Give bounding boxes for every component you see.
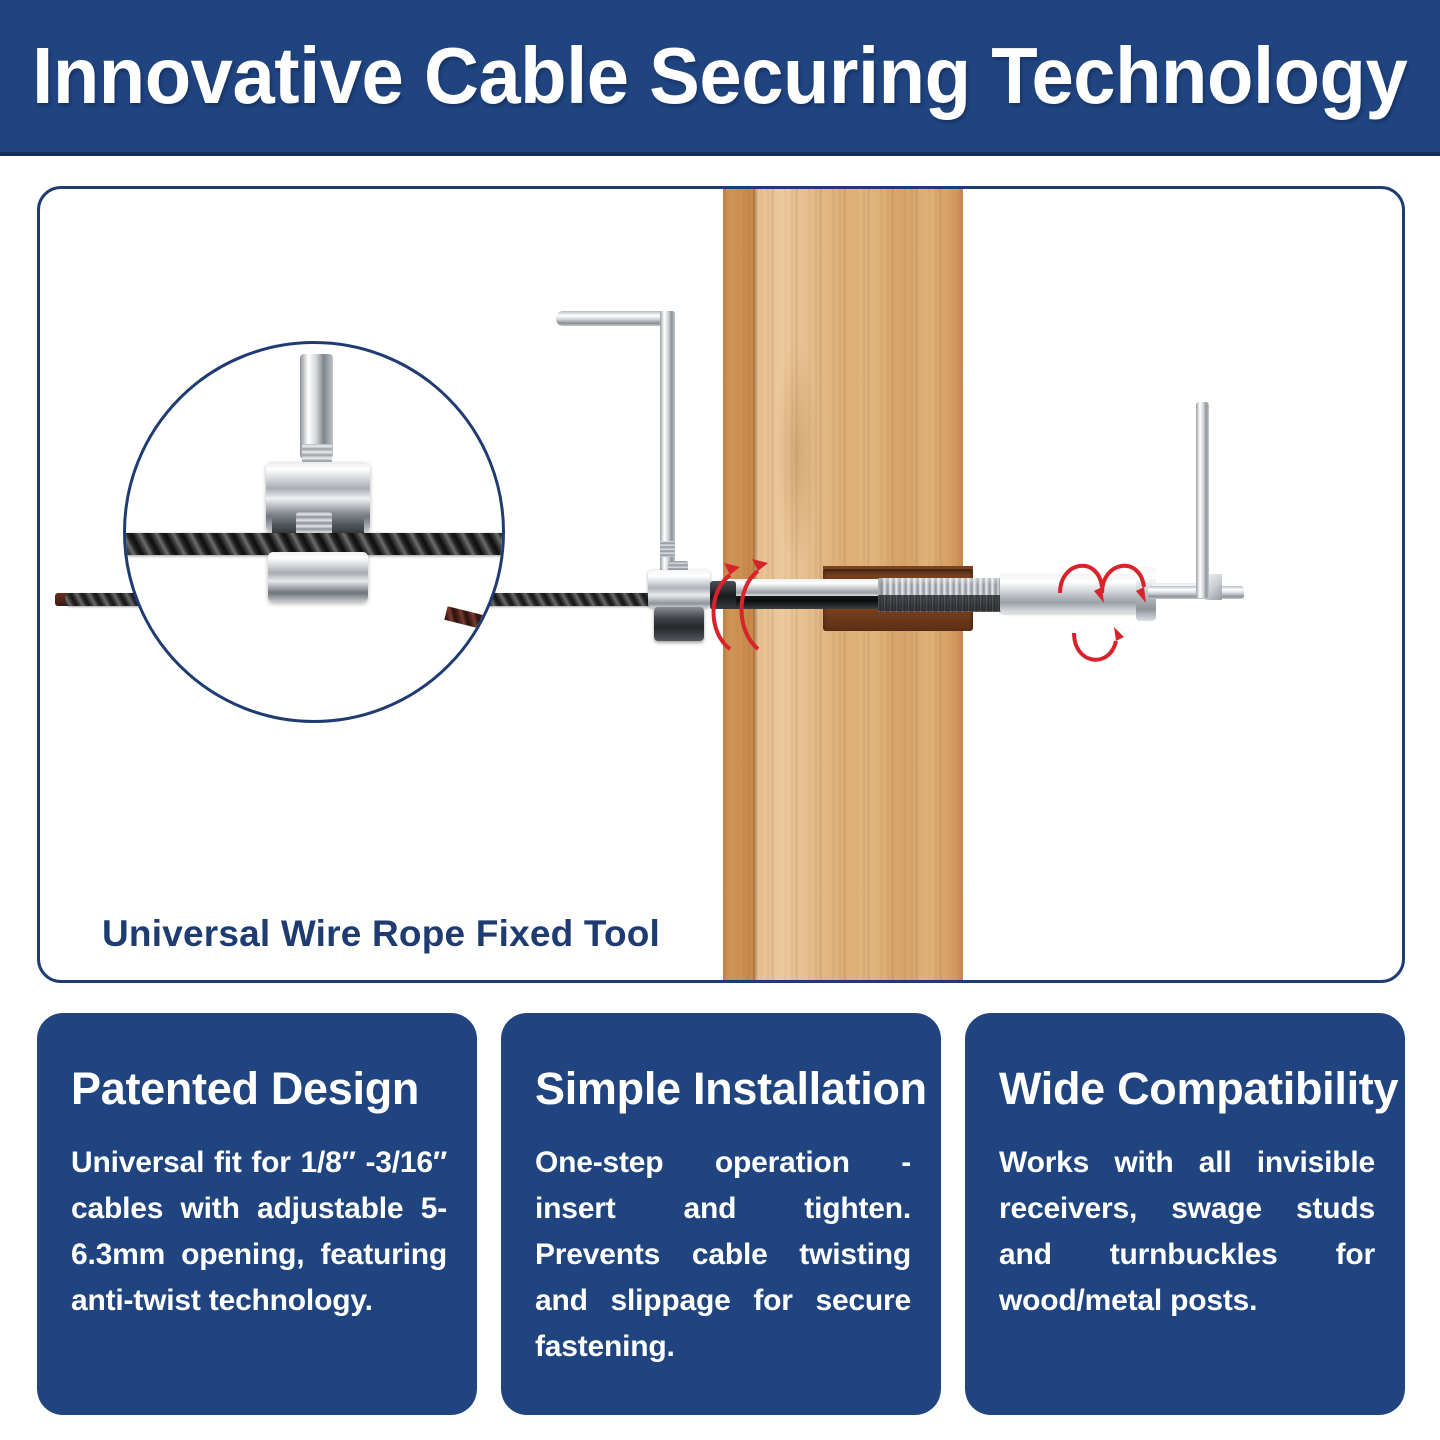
- feature-card-body: Universal fit for 1/8″ -3/16″ cables wit…: [71, 1140, 447, 1324]
- chrome-sleeve: [1000, 575, 1140, 613]
- stud-end-cap: [710, 581, 736, 609]
- left-rod-tool-vertical-arm: [660, 311, 675, 573]
- feature-card-wide-compatibility: Wide Compatibility Works with all invisi…: [965, 1013, 1405, 1415]
- feature-cards-row: Patented Design Universal fit for 1/8″ -…: [37, 1013, 1405, 1415]
- header-divider: [0, 152, 1440, 156]
- chrome-clamp-lower-jaw: [654, 607, 704, 641]
- wood-knot: [775, 339, 819, 569]
- hex-key-vertical-arm: [1196, 402, 1209, 598]
- left-rod-tool-horizontal-arm: [556, 311, 674, 326]
- feature-card-body: One-step operation - insert and tighten.…: [535, 1140, 911, 1369]
- inset-clamp-lower: [268, 552, 368, 602]
- feature-card-title: Wide Compatibility: [999, 1065, 1375, 1112]
- feature-card-title: Simple Installation: [535, 1065, 911, 1112]
- inset-caption: Universal Wire Rope Fixed Tool: [102, 913, 660, 955]
- product-photo-panel: Universal Wire Rope Fixed Tool: [37, 186, 1405, 983]
- feature-card-body: Works with all invisible receivers, swag…: [999, 1140, 1375, 1324]
- feature-card-patented-design: Patented Design Universal fit for 1/8″ -…: [37, 1013, 477, 1415]
- threaded-section-shadow: [878, 595, 1003, 611]
- header-banner: Innovative Cable Securing Technology: [0, 0, 1440, 152]
- feature-card-title: Patented Design: [71, 1065, 447, 1112]
- chrome-clamp-body: [648, 570, 710, 608]
- page-title: Innovative Cable Securing Technology: [32, 36, 1407, 116]
- left-rod-tool-knurl: [660, 541, 675, 557]
- magnified-detail-circle: [123, 341, 505, 723]
- feature-card-simple-installation: Simple Installation One-step operation -…: [501, 1013, 941, 1415]
- inset-cable-tail: [444, 606, 505, 635]
